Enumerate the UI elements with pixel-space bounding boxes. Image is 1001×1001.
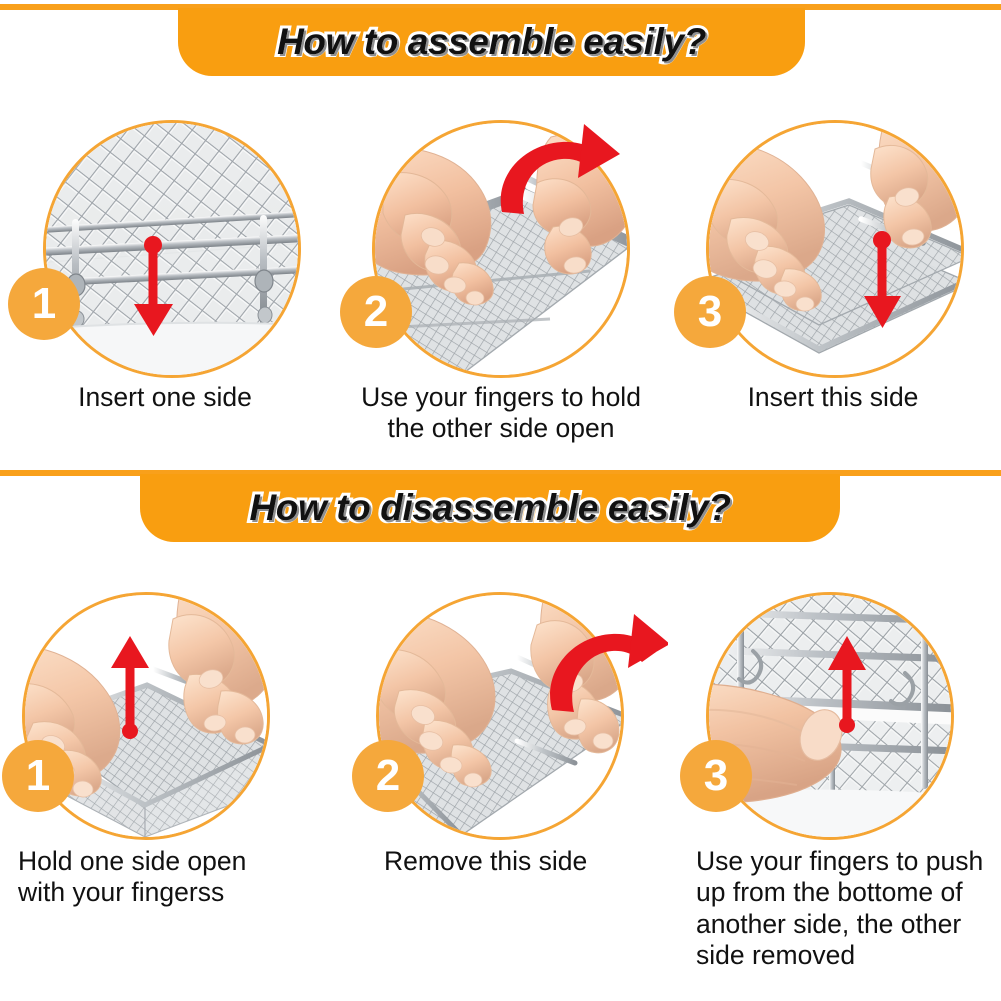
assemble-step-1-badge: 1 [8, 268, 80, 340]
disassemble-step-1: 1 Hold one side open with your fingerss [0, 588, 334, 1001]
disassemble-step-2-badge: 2 [352, 740, 424, 812]
assemble-step-3: 3 Insert this side [668, 118, 1001, 448]
assemble-step-1-photo-wrap: 1 [0, 118, 334, 378]
thumb-push-up-illustration [709, 595, 951, 837]
disassemble-step-1-photo-wrap: 1 [0, 588, 334, 844]
disassemble-step-1-number: 1 [26, 754, 50, 798]
disassemble-step-2-photo-wrap: 2 [334, 588, 668, 844]
disassemble-step-3-photo-wrap: 3 [668, 588, 1001, 844]
assemble-step-2-caption: Use your fingers to hold the other side … [329, 382, 673, 445]
disassemble-step-3-caption: Use your fingers to push up from the bot… [696, 846, 1001, 971]
disassemble-steps-row: 1 Hold one side open with your fingerss [0, 588, 1001, 1001]
disassemble-step-3-number: 3 [704, 754, 728, 798]
assemble-steps-row: 1 Insert one side [0, 118, 1001, 448]
assemble-step-1-caption: Insert one side [0, 382, 330, 413]
assemble-step-3-number: 3 [698, 290, 722, 334]
assemble-step-3-photo-wrap: 3 [668, 118, 1001, 378]
disassemble-step-2: 2 Remove this side [334, 588, 668, 1001]
disassemble-step-3-badge: 3 [680, 740, 752, 812]
disassemble-step-1-badge: 1 [2, 740, 74, 812]
infographic-page: How to assemble easily? How to assemble … [0, 0, 1001, 1001]
disassemble-step-3: 3 Use your fingers to push up from the b… [668, 588, 1001, 1001]
disassemble-step-2-caption: Remove this side [384, 846, 684, 877]
assemble-step-2-photo-wrap: 2 [334, 118, 668, 378]
hand-remove-side-illustration [379, 595, 621, 837]
assemble-banner: How to assemble easily? How to assemble … [178, 8, 805, 76]
assemble-banner-title: How to assemble easily? How to assemble … [277, 21, 706, 63]
disassemble-step-3-photo [706, 592, 954, 840]
assemble-step-3-badge: 3 [674, 276, 746, 348]
disassemble-step-1-caption: Hold one side open with your fingerss [18, 846, 328, 909]
assemble-step-2-number: 2 [364, 290, 388, 334]
disassemble-step-2-photo [376, 592, 624, 840]
disassemble-step-2-number: 2 [376, 754, 400, 798]
disassemble-banner-title-fill: How to disassemble easily? [249, 487, 730, 528]
disassemble-banner: How to disassemble easily? How to disass… [140, 474, 840, 542]
assemble-step-3-photo [706, 120, 964, 378]
assemble-banner-title-fill: How to assemble easily? [277, 21, 706, 62]
two-hands-rack-illustration [709, 123, 961, 375]
assemble-step-2-photo [372, 120, 630, 378]
assemble-step-1-photo [43, 120, 301, 378]
assemble-step-2: 2 Use your fingers to hold the other sid… [334, 118, 668, 448]
assemble-step-2-badge: 2 [340, 276, 412, 348]
assemble-step-1-number: 1 [32, 282, 56, 326]
assemble-step-1: 1 Insert one side [0, 118, 334, 448]
disassemble-banner-title: How to disassemble easily? How to disass… [249, 487, 730, 529]
rack-closeup-insert-illustration [46, 123, 298, 375]
hand-press-tray-illustration [375, 123, 627, 375]
assemble-step-3-caption: Insert this side [668, 382, 998, 413]
